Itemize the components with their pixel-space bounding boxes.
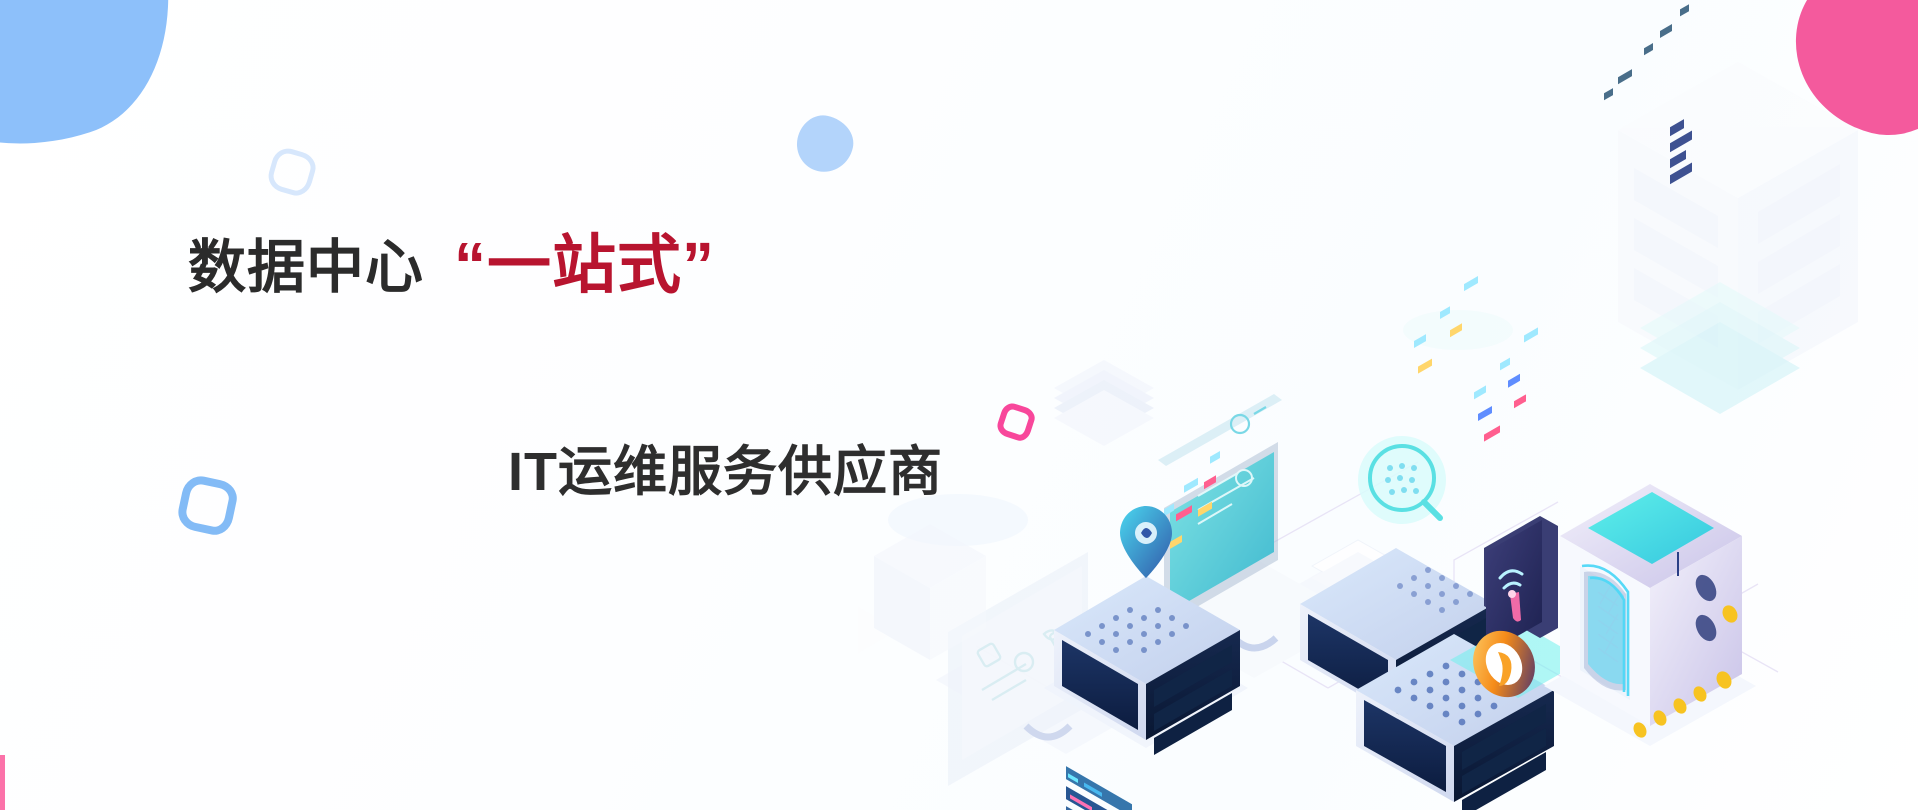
headline-block: 数据中心 “一站式” IT运维服务供应商	[188, 232, 1088, 506]
ring-blue-small	[265, 145, 319, 199]
server-rack-center	[1300, 276, 1494, 810]
blob-small-blue	[792, 111, 858, 177]
orange-coin	[1462, 620, 1547, 708]
background-building	[1618, 62, 1858, 390]
monitor-right	[1148, 394, 1360, 678]
headline-line-1: 数据中心 “一站式”	[188, 232, 1088, 299]
hero-banner: 数据中心 “一站式” IT运维服务供应商	[0, 0, 1918, 810]
blob-top-left	[0, 0, 212, 192]
headline-primary-text: 数据中心	[188, 238, 424, 299]
tablet-wifi	[1450, 516, 1584, 698]
server-rack-right	[1356, 327, 1554, 810]
background-server-small	[874, 524, 986, 660]
background-cube	[858, 572, 898, 688]
background-layers	[1640, 282, 1800, 414]
location-pin	[1120, 506, 1172, 578]
connection-lines	[976, 462, 1778, 708]
headline-accent-text: “一站式”	[454, 232, 715, 299]
monitor-left	[936, 552, 1196, 786]
blob-top-right	[1776, 0, 1918, 152]
magnifier-badge	[1358, 436, 1446, 524]
edge-bar-pink	[0, 755, 5, 810]
cooling-cabinet	[1544, 4, 1756, 746]
headline-line-2: IT运维服务供应商	[508, 427, 1088, 506]
floating-platform	[1278, 540, 1438, 642]
